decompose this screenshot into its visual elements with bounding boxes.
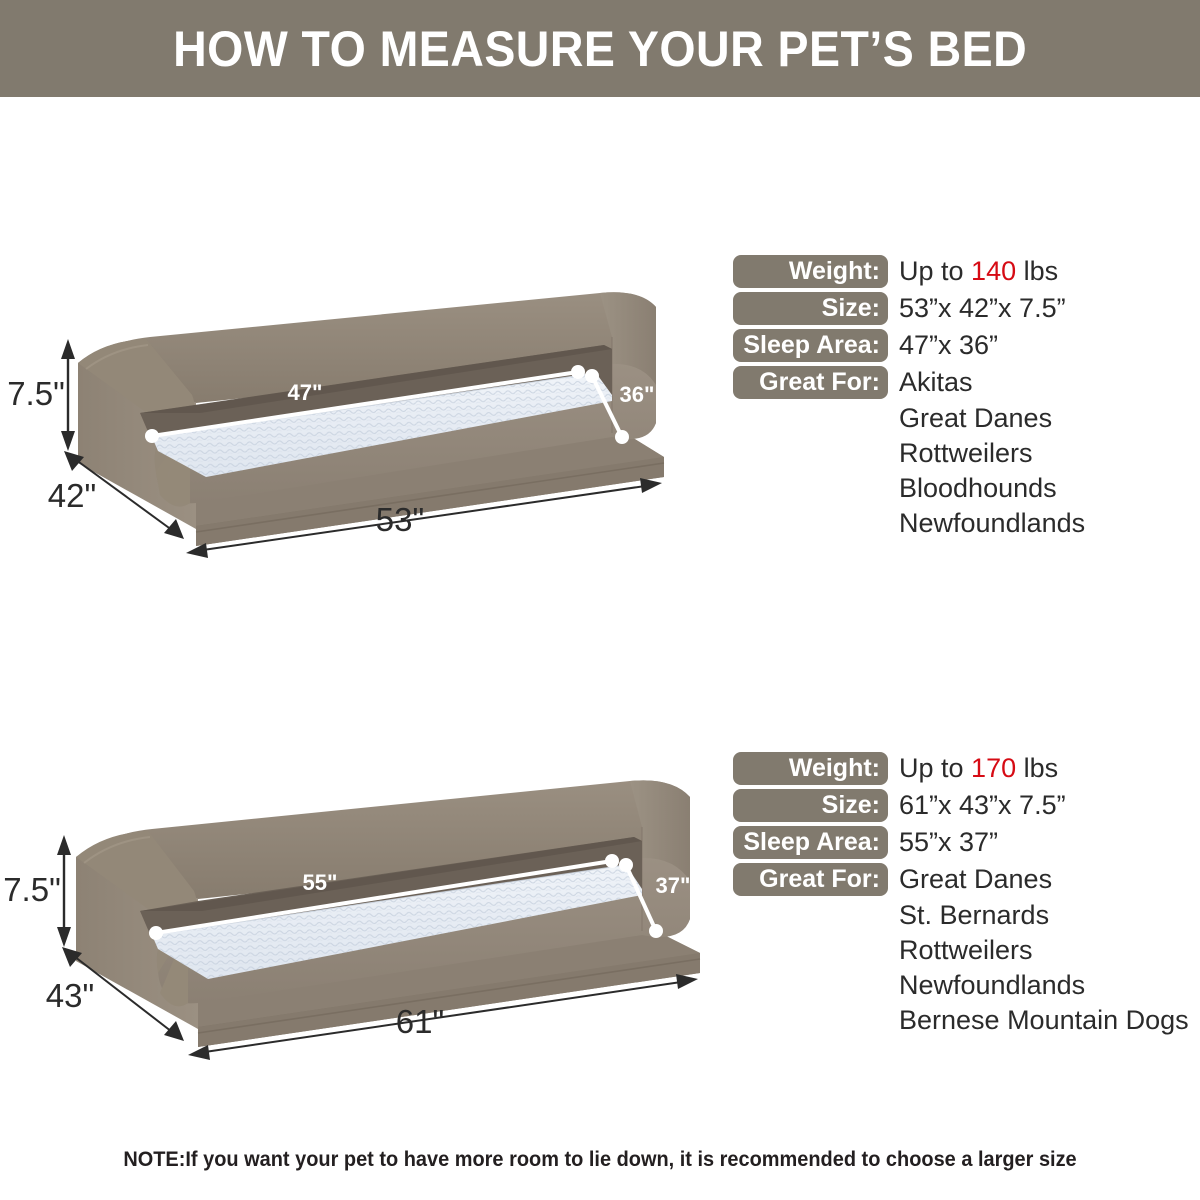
breed-list-xlarge: St. Bernards Rottweilers Newfoundlands B… bbox=[733, 898, 1193, 1038]
spec-row-great-for: Great For: Akitas bbox=[733, 366, 1193, 399]
bed-illustration-xlarge: 55" 37" 7.5" 43" bbox=[0, 735, 740, 1065]
breed-item: Rottweilers bbox=[733, 436, 1193, 471]
breed-item: Newfoundlands bbox=[733, 506, 1193, 541]
footer-note: NOTE:If you want your pet to have more r… bbox=[30, 1148, 1170, 1172]
breed-item: St. Bernards bbox=[733, 898, 1193, 933]
breed-item: Bernese Mountain Dogs bbox=[733, 1003, 1193, 1038]
weight-suffix: lbs bbox=[1016, 256, 1058, 286]
sleep-width-label: 55" bbox=[303, 870, 338, 895]
width-label: 53" bbox=[376, 501, 424, 538]
depth-label: 43" bbox=[46, 977, 94, 1014]
spec-value-size: 53”x 42”x 7.5” bbox=[888, 292, 1066, 325]
breed-item: Great Danes bbox=[888, 863, 1052, 896]
spec-panel-large: Weight: Up to 140 lbs Size: 53”x 42”x 7.… bbox=[733, 255, 1193, 541]
spec-value-weight: Up to 140 lbs bbox=[888, 255, 1058, 288]
weight-value: 170 bbox=[971, 753, 1016, 783]
spec-label-size: Size: bbox=[733, 789, 888, 822]
bed-section-xlarge: 55" 37" 7.5" 43" bbox=[0, 735, 1200, 1065]
spec-label-weight: Weight: bbox=[733, 255, 888, 288]
bed-illustration-large: 47" 36" 7.5" 42" bbox=[0, 245, 720, 565]
sleep-depth-label: 37" bbox=[656, 873, 691, 898]
spec-value-sleep-area: 47”x 36” bbox=[888, 329, 998, 362]
breed-item: Bloodhounds bbox=[733, 471, 1193, 506]
spec-label-size: Size: bbox=[733, 292, 888, 325]
breed-item: Rottweilers bbox=[733, 933, 1193, 968]
spec-row-sleep-area: Sleep Area: 47”x 36” bbox=[733, 329, 1193, 362]
spec-label-great-for: Great For: bbox=[733, 863, 888, 896]
breed-item: Newfoundlands bbox=[733, 968, 1193, 1003]
spec-row-weight: Weight: Up to 140 lbs bbox=[733, 255, 1193, 288]
bed-section-large: 47" 36" 7.5" 42" bbox=[0, 245, 1200, 565]
width-label: 61" bbox=[396, 1003, 444, 1040]
page-header: HOW TO MEASURE YOUR PET’S BED bbox=[0, 0, 1200, 97]
sleep-depth-label: 36" bbox=[620, 382, 655, 407]
breed-item: Akitas bbox=[888, 366, 973, 399]
page-title: HOW TO MEASURE YOUR PET’S BED bbox=[173, 20, 1027, 78]
weight-value: 140 bbox=[971, 256, 1016, 286]
weight-suffix: lbs bbox=[1016, 753, 1058, 783]
spec-panel-xlarge: Weight: Up to 170 lbs Size: 61”x 43”x 7.… bbox=[733, 752, 1193, 1038]
breed-list-large: Great Danes Rottweilers Bloodhounds Newf… bbox=[733, 401, 1193, 541]
spec-label-great-for: Great For: bbox=[733, 366, 888, 399]
spec-label-sleep-area: Sleep Area: bbox=[733, 826, 888, 859]
spec-row-sleep-area: Sleep Area: 55”x 37” bbox=[733, 826, 1193, 859]
sleep-width-label: 47" bbox=[288, 380, 323, 405]
spec-label-sleep-area: Sleep Area: bbox=[733, 329, 888, 362]
depth-label: 42" bbox=[48, 477, 96, 514]
weight-prefix: Up to bbox=[899, 753, 971, 783]
spec-value-sleep-area: 55”x 37” bbox=[888, 826, 998, 859]
spec-value-size: 61”x 43”x 7.5” bbox=[888, 789, 1066, 822]
height-label: 7.5" bbox=[7, 375, 65, 412]
spec-row-great-for: Great For: Great Danes bbox=[733, 863, 1193, 896]
height-label: 7.5" bbox=[3, 871, 61, 908]
spec-row-size: Size: 61”x 43”x 7.5” bbox=[733, 789, 1193, 822]
breed-item: Great Danes bbox=[733, 401, 1193, 436]
spec-row-weight: Weight: Up to 170 lbs bbox=[733, 752, 1193, 785]
infographic-page: HOW TO MEASURE YOUR PET’S BED bbox=[0, 0, 1200, 1200]
spec-row-size: Size: 53”x 42”x 7.5” bbox=[733, 292, 1193, 325]
spec-value-weight: Up to 170 lbs bbox=[888, 752, 1058, 785]
spec-label-weight: Weight: bbox=[733, 752, 888, 785]
weight-prefix: Up to bbox=[899, 256, 971, 286]
